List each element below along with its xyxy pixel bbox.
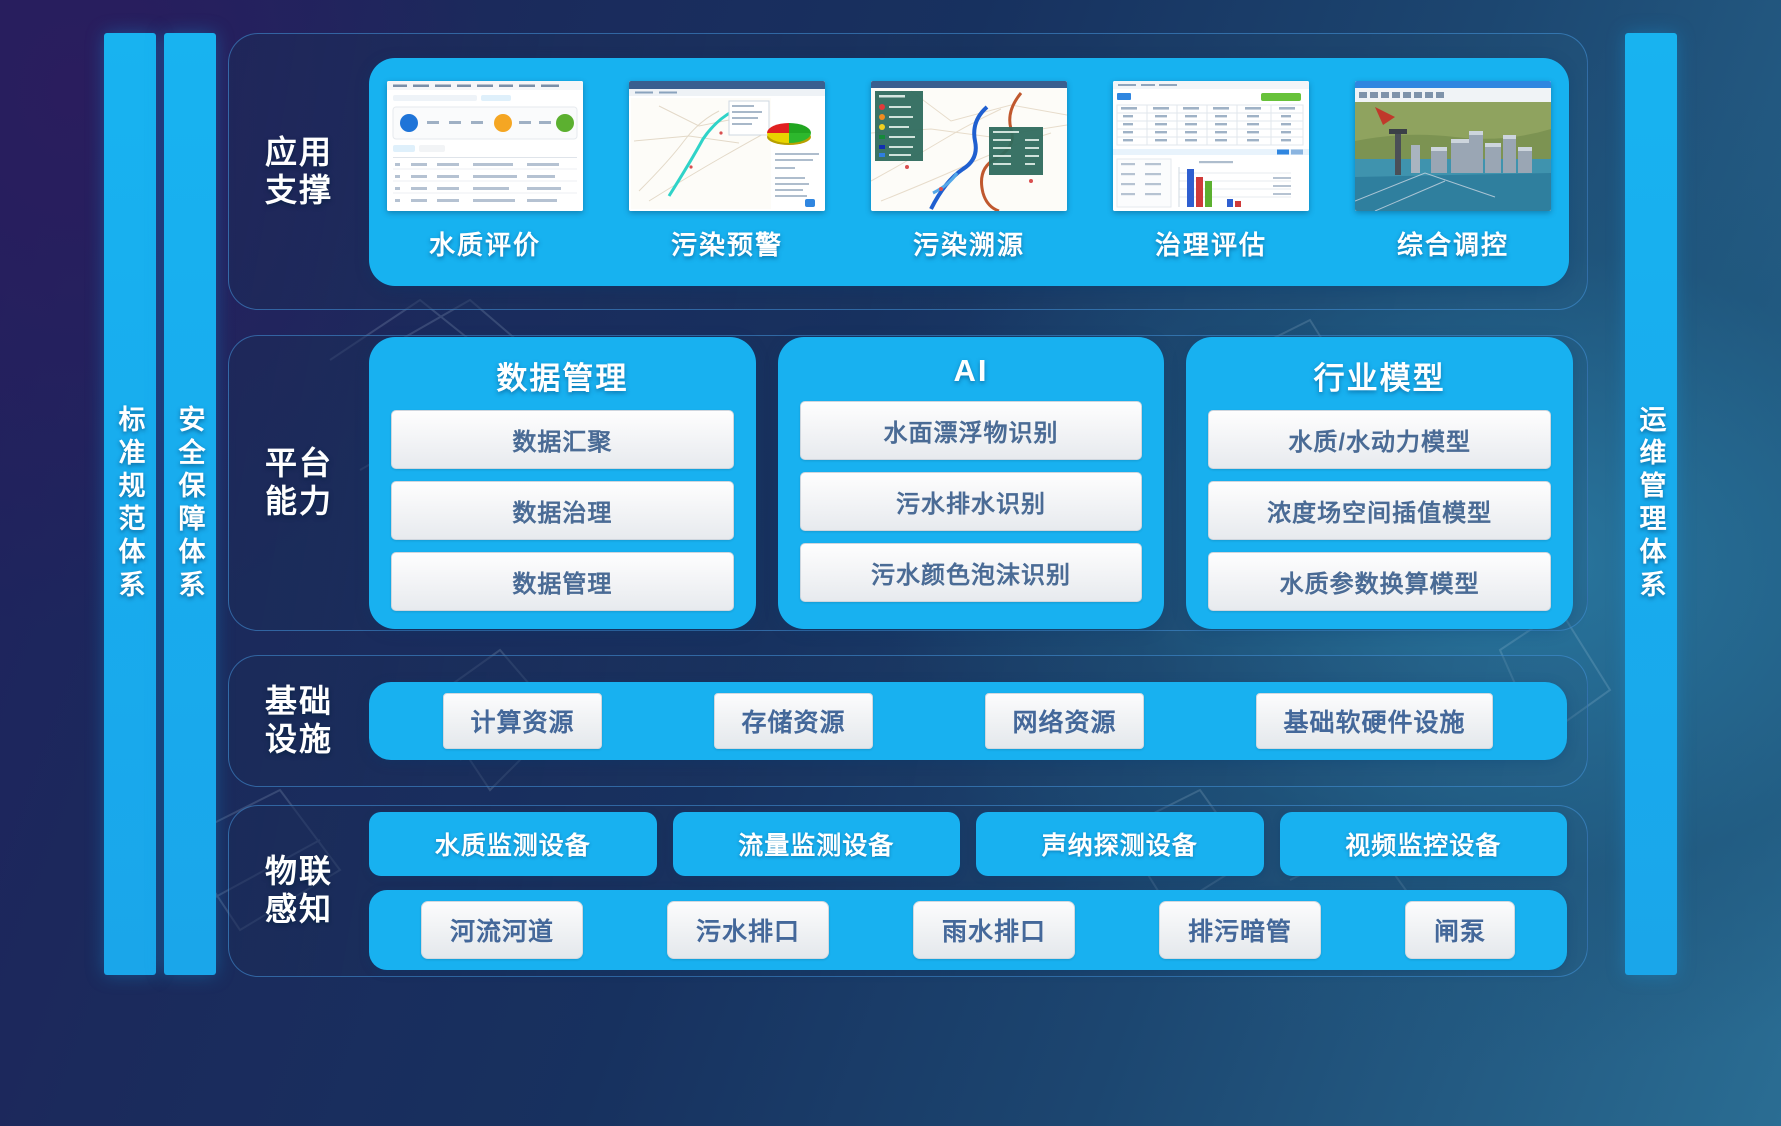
platform-item[interactable]: 水质/水动力模型 (1208, 410, 1551, 469)
platform-item[interactable]: 数据治理 (391, 481, 734, 540)
infrastructure-panel: 计算资源 存储资源 网络资源 基础软硬件设施 (369, 682, 1567, 760)
thumbnail-map-pie-chart (629, 81, 825, 211)
platform-column-title: 数据管理 (391, 353, 734, 398)
iot-target[interactable]: 排污暗管 (1159, 901, 1321, 959)
app-item-pollution-tracing[interactable]: 污染溯源 (871, 81, 1067, 262)
band-infrastructure: 基础 设施 计算资源 存储资源 网络资源 基础软硬件设施 (228, 655, 1588, 787)
platform-columns: 数据管理 数据汇聚 数据治理 数据管理 AI 水面漂浮物识别 污水排水识别 污水… (369, 337, 1587, 629)
infrastructure-item[interactable]: 网络资源 (985, 693, 1143, 749)
platform-column-title: AI (800, 353, 1143, 389)
infrastructure-item[interactable]: 存储资源 (714, 693, 872, 749)
platform-item[interactable]: 污水排水识别 (800, 472, 1143, 531)
platform-column-industry-model: 行业模型 水质/水动力模型 浓度场空间插值模型 水质参数换算模型 (1186, 337, 1573, 629)
iot-content: 水质监测设备 流量监测设备 声纳探测设备 视频监控设备 河流河道 污水排口 雨水… (369, 812, 1567, 970)
sidebar-ops-label: 运维管理体系 (1632, 405, 1671, 603)
band-platform-capability: 平台 能力 数据管理 数据汇聚 数据治理 数据管理 AI 水面漂浮物识别 污水排… (228, 335, 1588, 631)
iot-target[interactable]: 污水排口 (667, 901, 829, 959)
platform-column-ai: AI 水面漂浮物识别 污水排水识别 污水颜色泡沫识别 (778, 337, 1165, 629)
platform-item[interactable]: 数据管理 (391, 552, 734, 611)
band-label-infrastructure: 基础 设施 (229, 683, 369, 759)
platform-item[interactable]: 污水颜色泡沫识别 (800, 543, 1143, 602)
sidebar-standard-label: 标准规范体系 (111, 405, 150, 603)
infrastructure-item[interactable]: 计算资源 (443, 693, 601, 749)
platform-column-title: 行业模型 (1208, 353, 1551, 398)
platform-item[interactable]: 数据汇聚 (391, 410, 734, 469)
platform-item[interactable]: 水面漂浮物识别 (800, 401, 1143, 460)
thumbnail-map-legend (871, 81, 1067, 211)
app-caption: 水质评价 (429, 225, 541, 262)
band-label-application: 应用 支撑 (229, 134, 369, 210)
iot-target-row: 河流河道 污水排口 雨水排口 排污暗管 闸泵 (369, 890, 1567, 970)
app-caption: 综合调控 (1397, 225, 1509, 262)
sidebar-security-label: 安全保障体系 (171, 405, 210, 603)
iot-device[interactable]: 水质监测设备 (369, 812, 657, 876)
platform-item[interactable]: 水质参数换算模型 (1208, 552, 1551, 611)
app-item-water-quality-evaluation[interactable]: 水质评价 (387, 81, 583, 262)
sidebar-ops-management-system[interactable]: 运维管理体系 (1625, 33, 1677, 975)
band-label-iot: 物联 感知 (229, 853, 369, 929)
iot-device[interactable]: 声纳探测设备 (976, 812, 1264, 876)
app-caption: 污染预警 (671, 225, 783, 262)
sidebar-security-system[interactable]: 安全保障体系 (164, 33, 216, 975)
architecture-diagram: 标准规范体系 安全保障体系 运维管理体系 应用 支撑 (0, 0, 1781, 1126)
iot-device[interactable]: 视频监控设备 (1280, 812, 1568, 876)
app-caption: 污染溯源 (913, 225, 1025, 262)
iot-target[interactable]: 河流河道 (421, 901, 583, 959)
iot-target[interactable]: 闸泵 (1405, 901, 1515, 959)
sidebar-standard-system[interactable]: 标准规范体系 (104, 33, 156, 975)
app-item-pollution-warning[interactable]: 污染预警 (629, 81, 825, 262)
thumbnail-dashboard-table (387, 81, 583, 211)
iot-target[interactable]: 雨水排口 (913, 901, 1075, 959)
band-application-support: 应用 支撑 (228, 33, 1588, 310)
band-label-platform: 平台 能力 (229, 445, 369, 521)
thumbnail-3d-city-model (1355, 81, 1551, 211)
band-iot-sensing: 物联 感知 水质监测设备 流量监测设备 声纳探测设备 视频监控设备 河流河道 污… (228, 805, 1588, 977)
app-caption: 治理评估 (1155, 225, 1267, 262)
iot-device[interactable]: 流量监测设备 (673, 812, 961, 876)
layers-container: 应用 支撑 (228, 33, 1588, 975)
platform-item[interactable]: 浓度场空间插值模型 (1208, 481, 1551, 540)
iot-device-row: 水质监测设备 流量监测设备 声纳探测设备 视频监控设备 (369, 812, 1567, 876)
app-item-treatment-assessment[interactable]: 治理评估 (1113, 81, 1309, 262)
thumbnail-report-bar-chart (1113, 81, 1309, 211)
platform-column-data-management: 数据管理 数据汇聚 数据治理 数据管理 (369, 337, 756, 629)
infrastructure-item[interactable]: 基础软硬件设施 (1256, 693, 1492, 749)
app-item-integrated-control[interactable]: 综合调控 (1355, 81, 1551, 262)
application-panel: 水质评价 (369, 58, 1569, 286)
